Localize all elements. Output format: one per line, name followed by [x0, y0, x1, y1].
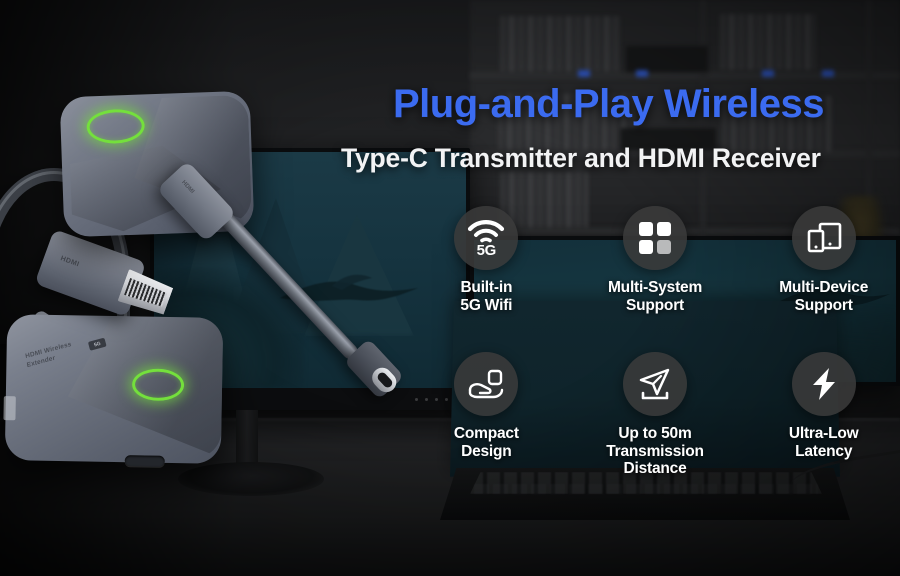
- books: [720, 14, 816, 70]
- feature-icon-circle: [792, 206, 856, 270]
- feature-label: Compact Design: [454, 425, 519, 460]
- feature-multi-system: Multi-System Support: [571, 206, 740, 314]
- feature-label: Multi-System Support: [608, 279, 702, 314]
- feature-label: Multi-Device Support: [779, 279, 868, 314]
- feature-icon-circle: [792, 352, 856, 416]
- wifi-5g-icon: 5G: [466, 218, 506, 258]
- feature-icon-circle: [623, 352, 687, 416]
- books: [500, 16, 620, 72]
- feature-label: Ultra-Low Latency: [789, 425, 859, 460]
- blue-accent: [578, 70, 590, 77]
- feature-label: Up to 50m Transmission Distance: [606, 425, 704, 478]
- feature-row-top: 5G Built-in 5G Wifi Multi-System Support: [408, 206, 900, 314]
- blue-accent: [822, 70, 834, 77]
- devices-icon: [806, 221, 842, 255]
- page-headline: Plug-and-Play Wireless: [393, 82, 900, 127]
- side-port: [3, 396, 15, 420]
- product-marketing-banner: HISION: [0, 0, 900, 576]
- grid-squares-icon: [639, 222, 671, 254]
- shelf-board: [470, 72, 900, 79]
- led-indicator-ring: [132, 368, 185, 401]
- led-indicator-ring: [86, 108, 145, 144]
- feature-wifi-5g: 5G Built-in 5G Wifi: [402, 206, 571, 314]
- blue-accent: [636, 70, 648, 77]
- usb-c-port: [125, 455, 165, 467]
- feature-icon-circle: [623, 206, 687, 270]
- feature-transmission-distance: Up to 50m Transmission Distance: [571, 352, 740, 478]
- feature-icon-circle: 5G: [454, 206, 518, 270]
- page-subheadline: Type-C Transmitter and HDMI Receiver: [341, 143, 900, 174]
- feature-compact-design: Compact Design: [402, 352, 571, 478]
- connector-logo: HDMI: [180, 180, 195, 195]
- feature-list: 5G Built-in 5G Wifi Multi-System Support: [408, 206, 900, 526]
- lightning-bolt-icon: [809, 366, 839, 402]
- feature-label: Built-in 5G Wifi: [460, 279, 512, 314]
- blue-accent: [762, 70, 774, 77]
- hand-device-icon: [467, 368, 505, 400]
- feature-row-bottom: Compact Design Up to 50m Transmission Di…: [408, 352, 900, 478]
- feature-icon-circle: [454, 352, 518, 416]
- feature-multi-device: Multi-Device Support: [739, 206, 900, 314]
- feature-low-latency: Ultra-Low Latency: [739, 352, 900, 478]
- send-arrow-icon: [637, 367, 673, 401]
- hdmi-logo: HDMI: [59, 255, 80, 268]
- shelf-box: [626, 46, 708, 72]
- wifi-5g-badge: 5G: [466, 242, 506, 259]
